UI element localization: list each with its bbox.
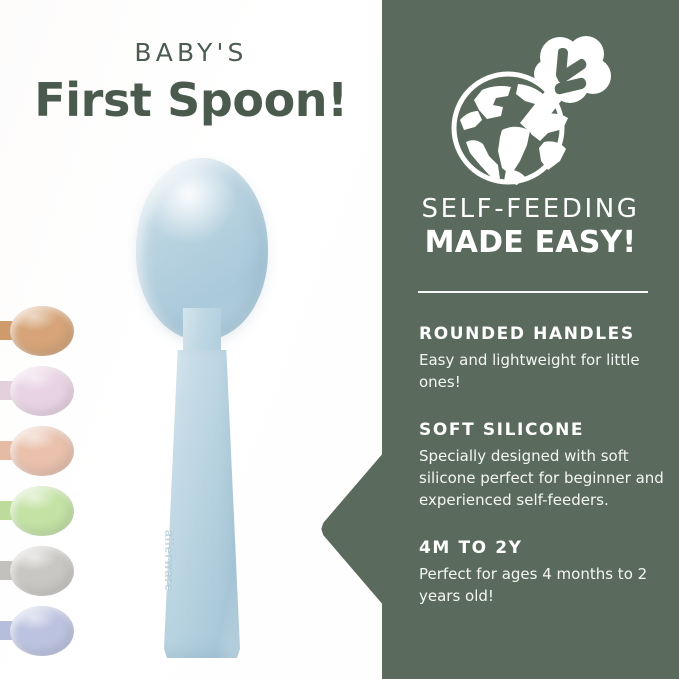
feature-item: SOFT SILICONE Specially designed with so…: [419, 420, 665, 512]
feature-title: 4M TO 2Y: [419, 538, 665, 558]
list-item[interactable]: [0, 602, 98, 660]
swatch-bowl-green: [10, 486, 74, 536]
tagline-line-1: SELF-FEEDING: [382, 196, 679, 223]
right-feature-panel: SELF-FEEDING MADE EASY! ROUNDED HANDLES …: [382, 0, 679, 679]
spoon-emboss-text: allerware: [156, 530, 176, 650]
color-variant-list: [0, 302, 98, 662]
title-block: BABY'S First Spoon!: [0, 40, 382, 124]
divider: [418, 291, 648, 293]
list-item[interactable]: [0, 542, 98, 600]
title-kicker: BABY'S: [0, 40, 382, 65]
brand-tagline: SELF-FEEDING MADE EASY!: [382, 196, 679, 259]
main-spoon-image: allerware: [128, 158, 276, 658]
list-item[interactable]: [0, 482, 98, 540]
swatch-bowl-lilac-pink: [10, 366, 74, 416]
infographic-stage: BABY'S First Spoon! allerware: [0, 0, 679, 679]
feature-item: ROUNDED HANDLES Easy and lightweight for…: [419, 324, 665, 394]
feature-item: 4M TO 2Y Perfect for ages 4 months to 2 …: [419, 538, 665, 608]
feature-body: Perfect for ages 4 months to 2 years old…: [419, 564, 665, 608]
swatch-bowl-grey: [10, 546, 74, 596]
feature-body: Specially designed with soft silicone pe…: [419, 446, 665, 511]
swatch-bowl-tan: [10, 306, 74, 356]
swatch-bowl-periwinkle: [10, 606, 74, 656]
feature-list: ROUNDED HANDLES Easy and lightweight for…: [419, 324, 665, 633]
page-title: First Spoon!: [0, 76, 382, 124]
list-item[interactable]: [0, 302, 98, 360]
globe-with-tree-logo: [382, 24, 679, 190]
list-item[interactable]: [0, 362, 98, 420]
list-item[interactable]: [0, 422, 98, 480]
left-product-panel: BABY'S First Spoon! allerware: [0, 0, 382, 679]
feature-title: ROUNDED HANDLES: [419, 324, 665, 344]
feature-title: SOFT SILICONE: [419, 420, 665, 440]
feature-body: Easy and lightweight for little ones!: [419, 350, 665, 394]
swatch-bowl-peach: [10, 426, 74, 476]
tagline-line-2: MADE EASY!: [382, 226, 679, 259]
